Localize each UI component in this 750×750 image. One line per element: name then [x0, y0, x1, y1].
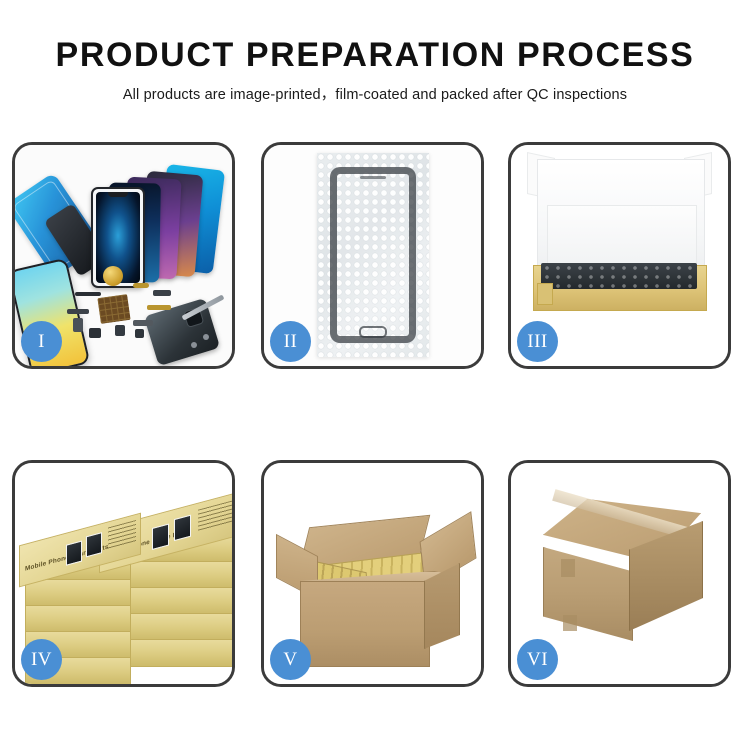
step-badge-3: III: [517, 321, 558, 362]
process-step-panel-4: Mobile Phone Spare Parts Mobile Phone Sp…: [12, 460, 235, 687]
spare-part-icon: [73, 318, 83, 332]
wrapped-screen-in-box: [541, 263, 697, 289]
box-phone-image: [66, 540, 82, 565]
box-phone-image: [174, 515, 191, 542]
wrapped-screen-outline: [330, 167, 416, 343]
spare-part-icon: [153, 290, 171, 296]
spare-part-icon: [115, 325, 125, 336]
step-badge-4: IV: [21, 639, 62, 680]
spare-part-icon: [133, 283, 149, 288]
box-phone-image: [152, 523, 169, 550]
spare-part-icon: [133, 320, 153, 326]
step-badge-2: II: [270, 321, 311, 362]
step-badge-6: VI: [517, 639, 558, 680]
screw-icon: [191, 342, 197, 348]
spare-part-icon: [89, 328, 101, 338]
box-spec-lines: [198, 499, 232, 532]
step-badge-1: I: [21, 321, 62, 362]
kraft-box-tab: [537, 283, 553, 305]
step-badge-5: V: [270, 639, 311, 680]
stacked-box: [25, 579, 131, 607]
process-step-panel-2: II: [261, 142, 484, 369]
spare-part-icon: [147, 305, 171, 310]
stacked-box: [25, 605, 131, 633]
process-panel-grid: I II III: [12, 140, 739, 686]
page-subtitle: All products are image-printed，film-coat…: [0, 75, 750, 104]
screw-icon: [203, 334, 209, 340]
page-title: PRODUCT PREPARATION PROCESS: [0, 0, 750, 75]
process-step-panel-1: I: [12, 142, 235, 369]
carton-handle-slot: [561, 559, 575, 577]
phone-notch-icon: [108, 192, 128, 197]
header: PRODUCT PREPARATION PROCESS All products…: [0, 0, 750, 104]
process-step-panel-6: VI: [508, 460, 731, 687]
process-step-panel-5: V: [261, 460, 484, 687]
box-phone-image: [86, 532, 102, 557]
vibration-motor-icon: [103, 266, 123, 286]
carton-front-face: [300, 581, 430, 667]
carton-handle-slot: [563, 615, 577, 631]
chip-grid-icon: [97, 294, 130, 324]
phone-speaker-icon: [360, 176, 386, 179]
spare-part-icon: [75, 292, 101, 296]
spare-part-icon: [67, 309, 89, 314]
process-step-panel-3: III: [508, 142, 731, 369]
spare-part-icon: [135, 329, 144, 338]
box-spec-lines: [108, 520, 136, 550]
